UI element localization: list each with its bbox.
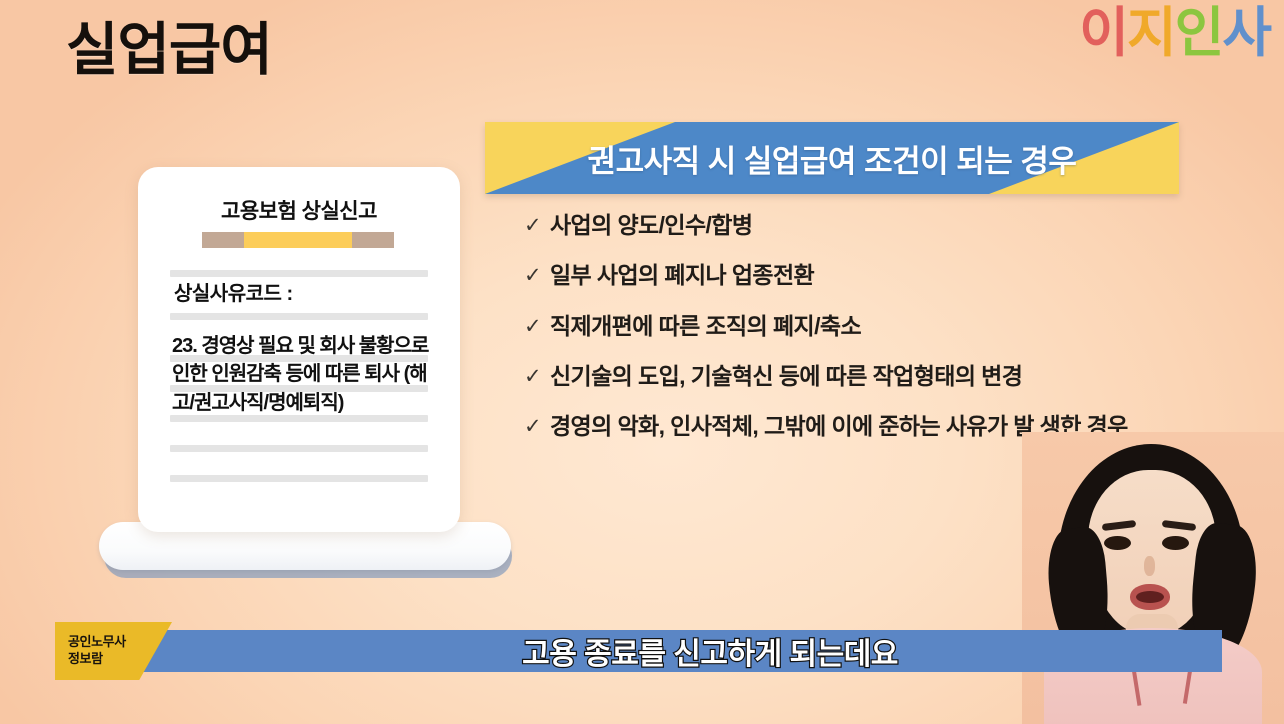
form-field-value: 23. 경영상 필요 및 회사 불황으로 인한 인원감축 등에 따른 퇴사 (해… [172,332,434,417]
presenter-nose [1144,556,1155,576]
form-rule-line [170,475,428,482]
form-field-label: 상실사유코드 : [174,277,293,306]
logo-char-3: 인 [1175,6,1223,60]
form-highlight-bar [202,232,394,248]
logo-char-2: 지 [1127,6,1175,60]
presenter-eye-right [1162,536,1189,550]
highlight-segment-left [202,232,244,248]
check-icon: ✓ [524,411,550,441]
form-card-title: 고용보험 상실신고 [138,195,460,225]
check-icon: ✓ [524,210,550,240]
list-item: ✓ 신기술의 도입, 기술혁신 등에 따른 작업형태의 변경 [524,361,1164,391]
list-item: ✓ 직제개편에 따른 조직의 폐지/축소 [524,311,1164,341]
employment-insurance-form-card: 고용보험 상실신고 상실사유코드 : 23. 경영상 필요 및 회사 불황으로 … [138,167,460,532]
page-title: 실업급여 [66,22,272,79]
list-item: ✓ 일부 사업의 폐지나 업종전환 [524,260,1164,290]
logo-char-4: 사 [1222,6,1270,60]
banner-heading: 권고사직 시 실업급여 조건이 되는 경우 [485,122,1179,194]
form-rule-line [170,313,428,320]
name-tag-line-1: 공인노무사 [55,634,172,651]
condition-list: ✓ 사업의 양도/인수/합병 ✓ 일부 사업의 폐지나 업종전환 ✓ 직제개편에… [524,210,1164,462]
slide-canvas: 실업급여 이지인사 고용보험 상실신고 상실사유코드 : 23. 경영상 필요 … [0,0,1284,724]
list-item: ✓ 사업의 양도/인수/합병 [524,210,1164,240]
highlight-segment-right [352,232,394,248]
check-icon: ✓ [524,311,550,341]
list-item-label: 직제개편에 따른 조직의 폐지/축소 [550,311,861,341]
section-banner: 권고사직 시 실업급여 조건이 되는 경우 [485,122,1179,194]
presenter-video-overlay [1022,432,1284,724]
highlight-segment-center [244,232,352,248]
form-rule-line [170,445,428,452]
check-icon: ✓ [524,260,550,290]
logo-char-1: 이 [1079,6,1127,60]
presenter-eye-left [1104,536,1131,550]
form-rule-line [170,270,428,277]
check-icon: ✓ [524,361,550,391]
brand-logo: 이지인사 [1079,6,1270,60]
presenter-mouth-inner [1136,591,1164,603]
list-item-label: 사업의 양도/인수/합병 [550,210,752,240]
list-item-label: 신기술의 도입, 기술혁신 등에 따른 작업형태의 변경 [550,361,1022,391]
list-item-label: 일부 사업의 폐지나 업종전환 [550,260,814,290]
subtitle-text: 고용 종료를 신고하게 되는데요 [330,630,1090,672]
